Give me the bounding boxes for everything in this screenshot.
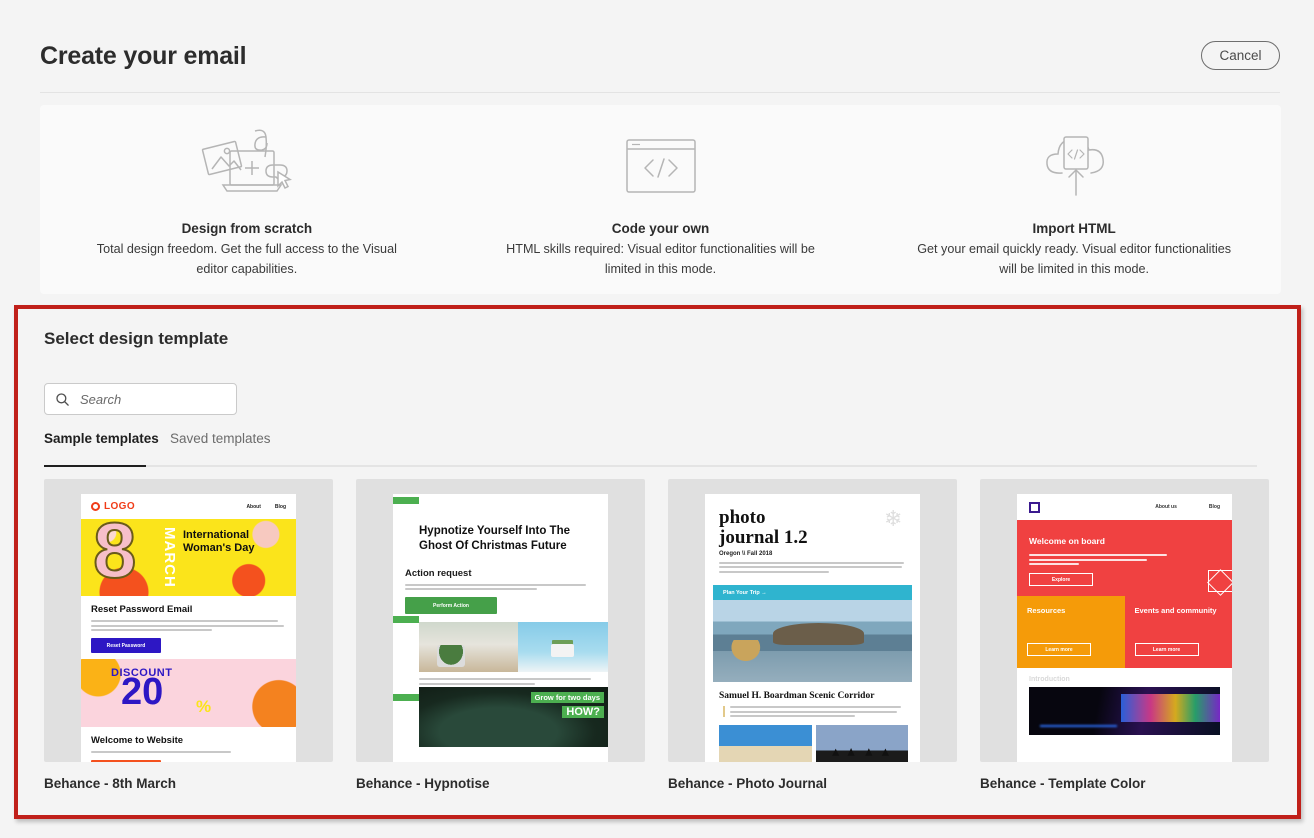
preview-banner-line2: HOW? <box>562 706 604 718</box>
create-email-page: Create your email Cancel De <box>0 0 1314 838</box>
page-header: Create your email Cancel <box>0 0 1314 94</box>
template-search-box[interactable] <box>44 383 237 415</box>
preview-nav-item: Blog <box>275 504 286 510</box>
creation-options-panel: Design from scratch Total design freedom… <box>40 105 1281 294</box>
preview-logo-text: LOGO <box>104 501 135 512</box>
option-design-from-scratch[interactable]: Design from scratch Total design freedom… <box>40 105 454 294</box>
preview-hero-heading: Welcome on board <box>1029 536 1220 546</box>
preview-subtitle: Oregon \\ Fall 2018 <box>719 551 908 557</box>
preview-image <box>1029 687 1220 735</box>
preview-promo-value: 20 <box>121 673 163 711</box>
template-tabs: Sample templates Saved templates <box>44 427 1257 467</box>
section-title: Select design template <box>44 329 228 349</box>
preview-column-button: Learn more <box>1027 643 1091 656</box>
template-thumbnail[interactable]: ❄ photo journal 1.2 Oregon \\ Fall 2018 <box>668 479 957 762</box>
preview-section-heading: Introduction <box>1017 668 1232 687</box>
preview-promo: DISCOUNT 20 % <box>81 659 296 727</box>
preview-hero-title: International Woman's Day <box>183 529 288 556</box>
snowflake-icon: ❄ <box>884 508 906 530</box>
tabs-baseline <box>44 465 1257 467</box>
template-thumbnail[interactable]: LOGO About Blog 8 MARCH Internation <box>44 479 333 762</box>
option-description: HTML skills required: Visual editor func… <box>495 240 827 279</box>
preview-column-heading: Events and community <box>1135 606 1223 616</box>
template-name: Behance - 8th March <box>44 776 333 791</box>
preview-title-line1: photo <box>719 507 765 528</box>
preview-marker <box>393 497 419 504</box>
preview-marker <box>393 694 419 701</box>
logo-ring-icon <box>91 502 100 511</box>
template-grid: LOGO About Blog 8 MARCH Internation <box>44 479 1284 791</box>
template-name: Behance - Hypnotise <box>356 776 645 791</box>
page-title: Create your email <box>40 42 246 71</box>
envelope-icon <box>1208 570 1232 592</box>
preview-promo-unit: % <box>196 697 211 717</box>
preview-hero-button: Explore <box>1029 573 1093 586</box>
template-card[interactable]: ❄ photo journal 1.2 Oregon \\ Fall 2018 <box>668 479 957 791</box>
preview-banner-line1: Grow for two days <box>531 692 604 703</box>
select-design-template-section: Select design template Sample templates … <box>14 305 1301 819</box>
preview-footer-lines <box>91 751 286 753</box>
active-tab-indicator <box>44 465 146 467</box>
preview-photo <box>713 600 912 682</box>
tab-sample-templates[interactable]: Sample templates <box>44 427 159 465</box>
search-input[interactable] <box>80 392 220 407</box>
option-description: Get your email quickly ready. Visual edi… <box>908 240 1240 279</box>
preview-column-button: Learn more <box>1135 643 1199 656</box>
preview-nav-item: About <box>246 504 260 510</box>
design-from-scratch-icon <box>199 123 295 209</box>
cancel-button[interactable]: Cancel <box>1201 41 1280 70</box>
preview-caption-lines <box>419 678 594 685</box>
preview-footer-button: Create Password <box>91 760 161 762</box>
preview-footer-heading: Welcome to Website <box>91 735 286 746</box>
preview-body-lines <box>91 620 286 631</box>
preview-hero-title: Hypnotize Yourself Into The Ghost Of Chr… <box>419 524 594 554</box>
preview-nav-item: About us <box>1155 504 1177 510</box>
preview-article-lines <box>723 706 908 717</box>
preview-marker <box>393 616 419 623</box>
option-code-your-own[interactable]: Code your own HTML skills required: Visu… <box>454 105 868 294</box>
preview-title-line2: journal 1.2 <box>719 527 808 548</box>
preview-intro-lines <box>719 562 908 573</box>
option-title: Import HTML <box>1033 221 1116 236</box>
preview-section-heading: Reset Password Email <box>91 604 286 615</box>
template-card[interactable]: Hypnotize Yourself Into The Ghost Of Chr… <box>356 479 645 791</box>
preview-banner: Grow for two days HOW? <box>419 687 608 747</box>
option-title: Code your own <box>612 221 710 236</box>
preview-hero-lines <box>1029 554 1220 565</box>
preview-photo-pair <box>719 725 908 762</box>
preview-nav-item: Blog <box>1209 504 1220 510</box>
preview-hero-number: 8 <box>93 519 136 589</box>
preview-hero: Welcome on board Explore <box>1017 520 1232 596</box>
preview-hero: 8 MARCH International Woman's Day <box>81 519 296 596</box>
preview-button: Perform Action <box>405 597 497 614</box>
preview-cta: Plan Your Trip → <box>713 585 912 600</box>
template-name: Behance - Template Color <box>980 776 1269 791</box>
import-html-icon <box>1026 123 1122 209</box>
preview-section-heading: Action request <box>405 568 594 579</box>
template-card[interactable]: LOGO About Blog 8 MARCH Internation <box>44 479 333 791</box>
logo-square-icon <box>1029 502 1040 513</box>
code-your-own-icon <box>622 123 700 209</box>
tab-saved-templates[interactable]: Saved templates <box>170 427 271 465</box>
preview-body-lines <box>405 584 594 591</box>
template-thumbnail[interactable]: About us Blog Welcome on board Explore <box>980 479 1269 762</box>
template-name: Behance - Photo Journal <box>668 776 957 791</box>
template-card[interactable]: About us Blog Welcome on board Explore <box>980 479 1269 791</box>
template-thumbnail[interactable]: Hypnotize Yourself Into The Ghost Of Chr… <box>356 479 645 762</box>
search-icon <box>55 392 70 407</box>
preview-hero-month: MARCH <box>161 527 178 588</box>
option-import-html[interactable]: Import HTML Get your email quickly ready… <box>867 105 1281 294</box>
option-description: Total design freedom. Get the full acces… <box>81 240 413 279</box>
preview-column-heading: Resources <box>1027 606 1115 616</box>
preview-article-heading: Samuel H. Boardman Scenic Corridor <box>719 691 908 701</box>
preview-images <box>419 622 608 672</box>
option-title: Design from scratch <box>182 221 313 236</box>
preview-button: Reset Password <box>91 638 161 653</box>
header-divider <box>40 92 1280 93</box>
